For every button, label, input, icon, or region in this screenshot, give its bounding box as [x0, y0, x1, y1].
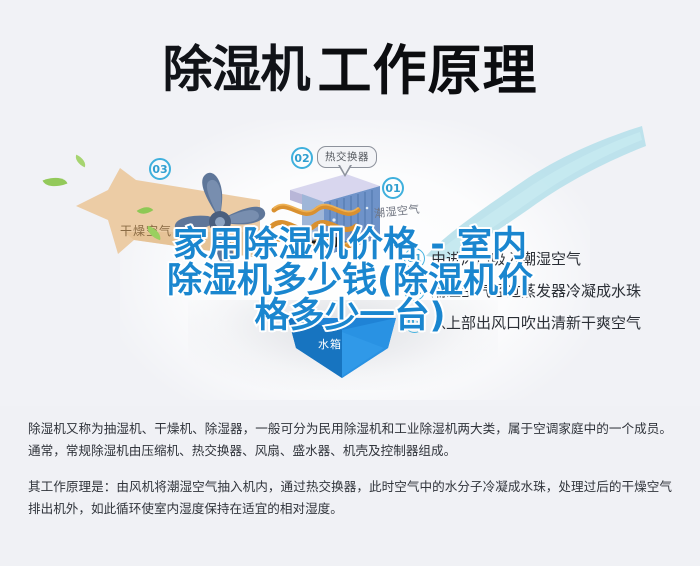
copper-coil-icon [268, 196, 364, 258]
diagram-badge-02: 02 [291, 147, 313, 169]
step-number-badge: 01 [404, 248, 425, 269]
water-tank-icon [288, 318, 396, 380]
humid-air-label: 潮湿空气 [373, 201, 420, 222]
article-body: 除湿机又称为抽湿机、干燥机、除湿器，一般可分为民用除湿机和工业除湿机两大类，属于… [0, 418, 700, 520]
step-row: 02 潮湿空气经过蒸发器冷凝成水珠 [404, 280, 696, 301]
diagram-badge-03: 03 [149, 158, 171, 180]
article-paragraph-2: 其工作原理是：由风机将潮湿空气抽入机内，通过热交换器，此时空气中的水分子冷凝成水… [28, 476, 672, 520]
water-tank-label: 水箱 [318, 336, 342, 352]
callout-tail-icon [338, 165, 352, 177]
step-caption-text: 从上部出风口吹出清新干爽空气 [431, 312, 641, 333]
step-number-badge: 02 [404, 280, 425, 301]
dry-air-label: 干燥空气 [120, 222, 172, 239]
title-part-secondary: 工作原理 [318, 39, 538, 102]
step-caption-list: 01 由进风口吸入潮湿空气 02 潮湿空气经过蒸发器冷凝成水珠 03 从上部出风… [404, 248, 696, 344]
title-part-primary: 除湿机 [163, 41, 310, 99]
step-row: 03 从上部出风口吹出清新干爽空气 [404, 312, 696, 333]
infographic-title: 除湿机工作原理 [0, 26, 700, 105]
leaf-icon [43, 172, 68, 191]
page-root: 除湿机工作原理 干燥空气 [0, 0, 700, 566]
step-caption-text: 潮湿空气经过蒸发器冷凝成水珠 [431, 280, 641, 301]
step-row: 01 由进风口吸入潮湿空气 [404, 248, 696, 269]
airflow-swoosh-icon [418, 124, 648, 259]
fan-icon [168, 168, 272, 272]
article-paragraph-1: 除湿机又称为抽湿机、干燥机、除湿器，一般可分为民用除湿机和工业除湿机两大类，属于… [28, 418, 672, 462]
diagram-badge-01: 01 [382, 177, 404, 199]
step-caption-text: 由进风口吸入潮湿空气 [431, 248, 581, 269]
step-number-badge: 03 [404, 312, 425, 333]
infographic-panel: 除湿机工作原理 干燥空气 [0, 0, 700, 406]
